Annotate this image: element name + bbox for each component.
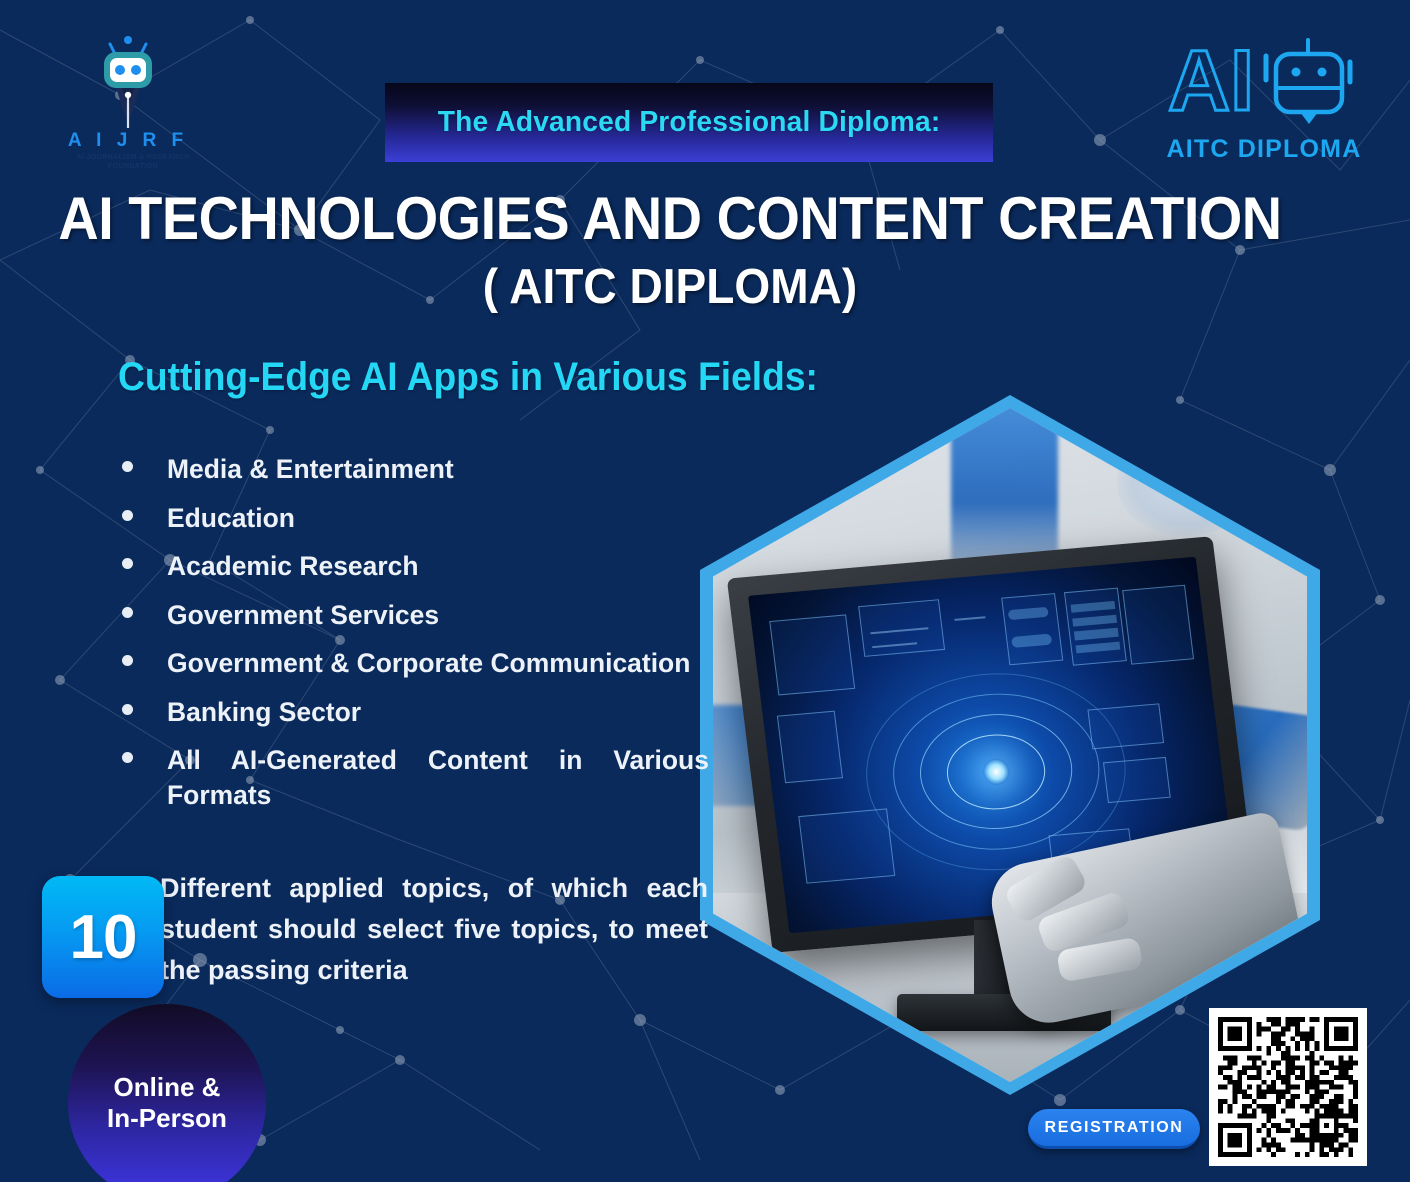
hud-panel-text-top	[858, 600, 945, 658]
robot-head-icon: AI	[1164, 26, 1364, 134]
bullet-dot-icon	[122, 655, 133, 666]
diploma-banner: The Advanced Professional Diploma:	[385, 83, 993, 162]
delivery-mode-line2: In-Person	[107, 1103, 227, 1134]
topics-callout-text: Different applied topics, of which each …	[160, 868, 708, 991]
hud-panel-chart-left	[769, 615, 854, 696]
registration-button-label: REGISTRATION	[1045, 1119, 1184, 1137]
aijrf-subtitle: AI JOURNALISM & RESEARCH FOUNDATION	[58, 154, 208, 172]
list-item-label: Media & Entertainment	[167, 452, 709, 487]
aijrf-logo: A I J R F AI JOURNALISM & RESEARCH FOUND…	[58, 28, 198, 168]
page-title: AI TECHNOLOGIES AND CONTENT CREATION	[47, 188, 1293, 249]
ai-outline-text: AI	[1168, 33, 1254, 129]
list-item-label: Government Services	[167, 598, 709, 633]
hud-panel-icons	[776, 711, 842, 784]
registration-qr-code[interactable]	[1209, 1008, 1367, 1166]
robot-pen-icon	[58, 28, 198, 133]
list-item-label: Government & Corporate Communication	[167, 646, 709, 681]
page-subtitle: ( AITC DIPLOMA)	[40, 262, 1300, 313]
list-item-label: Banking Sector	[167, 695, 709, 730]
topics-count-badge: 10	[42, 876, 164, 998]
bullet-dot-icon	[122, 510, 133, 521]
registration-button[interactable]: REGISTRATION	[1028, 1109, 1200, 1149]
bullet-dot-icon	[122, 461, 133, 472]
hud-panel-gauges	[1001, 593, 1063, 665]
brain-blob	[1117, 428, 1260, 536]
delivery-mode-badge: Online & In-Person	[68, 1004, 266, 1182]
list-item-label: Education	[167, 501, 709, 536]
banner-text: The Advanced Professional Diploma:	[438, 106, 941, 139]
hud-textline	[954, 616, 986, 621]
bullet-dot-icon	[122, 704, 133, 715]
poster-root: A I J R F AI JOURNALISM & RESEARCH FOUND…	[0, 0, 1410, 1182]
list-item: Education	[110, 501, 720, 536]
hud-panel-readout	[1064, 587, 1127, 666]
list-item: Banking Sector	[110, 695, 720, 730]
topics-count-value: 10	[70, 902, 137, 973]
hud-panel-chart-right	[1122, 585, 1194, 665]
list-item: Government & Corporate Communication	[110, 646, 720, 681]
list-item: Media & Entertainment	[110, 452, 720, 487]
hud-panel-list	[1103, 757, 1171, 803]
delivery-mode-line1: Online &	[114, 1072, 221, 1103]
list-item-label: Academic Research	[167, 549, 709, 584]
hero-image-hexagon: AI	[700, 395, 1320, 1095]
aitc-diploma-label: AITC DIPLOMA	[1164, 135, 1364, 164]
hexagon-photo: AI	[713, 408, 1307, 1082]
list-item: Academic Research	[110, 549, 720, 584]
section-heading: Cutting-Edge AI Apps in Various Fields:	[118, 355, 818, 400]
fields-list: Media & Entertainment Education Academic…	[110, 452, 720, 826]
bullet-dot-icon	[122, 558, 133, 569]
aitc-diploma-logo: AI AITC DIPLOMA	[1164, 26, 1364, 166]
bullet-dot-icon	[122, 752, 133, 763]
aijrf-wordmark: A I J R F	[58, 130, 198, 152]
list-item-label: All AI-Generated Content in Various Form…	[167, 743, 709, 812]
list-item: All AI-Generated Content in Various Form…	[110, 743, 720, 812]
ai-brain-graphic: AI	[1117, 428, 1260, 536]
hud-panel-bars	[1087, 703, 1163, 750]
bullet-dot-icon	[122, 607, 133, 618]
qr-canvas	[1218, 1017, 1358, 1157]
list-item: Government Services	[110, 598, 720, 633]
hud-panel-map	[798, 809, 896, 884]
